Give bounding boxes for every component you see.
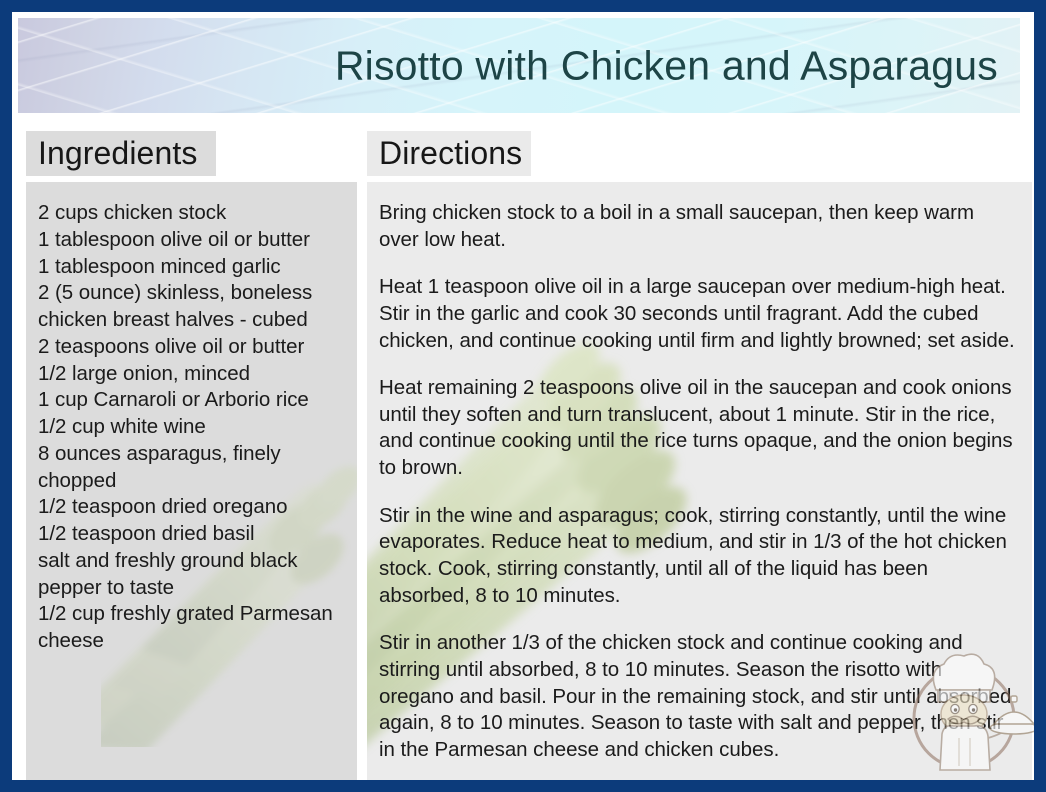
list-item: 1 tablespoon minced garlic [38,254,343,281]
list-item: 1/2 teaspoon dried basil [38,521,343,548]
ingredients-heading-label: Ingredients [26,135,197,172]
title-banner: Risotto with Chicken and Asparagus [18,18,1020,113]
list-item: 2 cups chicken stock [38,200,343,227]
list-item: 1 cup Carnaroli or Arborio rice [38,387,343,414]
directions-body: Bring chicken stock to a boil in a small… [367,182,1032,764]
list-item: 1/2 teaspoon dried oregano [38,494,343,521]
list-item: 1/2 cup white wine [38,414,343,441]
list-item: 2 (5 ounce) skinless, boneless [38,280,343,307]
list-item: cheese [38,628,343,655]
list-item: Bring chicken stock to a boil in a small… [379,200,1018,253]
list-item: Heat remaining 2 teaspoons olive oil in … [379,375,1018,482]
recipe-page: Risotto with Chicken and Asparagus Ingre… [12,12,1034,780]
list-item: 1 tablespoon olive oil or butter [38,227,343,254]
list-item: 8 ounces asparagus, finely [38,441,343,468]
list-item: Heat 1 teaspoon olive oil in a large sau… [379,274,1018,354]
directions-heading-block: Directions [367,131,531,176]
ingredients-heading-block: Ingredients [26,131,216,176]
list-item: Stir in another 1/3 of the chicken stock… [379,630,1018,763]
directions-heading-label: Directions [367,135,522,172]
list-item: chopped [38,468,343,495]
directions-list: Bring chicken stock to a boil in a small… [379,200,1018,764]
list-item: pepper to taste [38,575,343,602]
list-item: salt and freshly ground black [38,548,343,575]
directions-panel: Bring chicken stock to a boil in a small… [367,182,1032,780]
page-title: Risotto with Chicken and Asparagus [335,42,998,89]
ingredients-panel: 2 cups chicken stock 1 tablespoon olive … [26,182,357,780]
list-item: chicken breast halves - cubed [38,307,343,334]
list-item: 1/2 large onion, minced [38,361,343,388]
recipe-card-slide: Risotto with Chicken and Asparagus Ingre… [0,0,1046,792]
list-item: 2 teaspoons olive oil or butter [38,334,343,361]
list-item: Stir in the wine and asparagus; cook, st… [379,503,1018,610]
ingredients-body: 2 cups chicken stock 1 tablespoon olive … [26,182,357,655]
ingredients-list: 2 cups chicken stock 1 tablespoon olive … [38,200,343,655]
list-item: 1/2 cup freshly grated Parmesan [38,601,343,628]
